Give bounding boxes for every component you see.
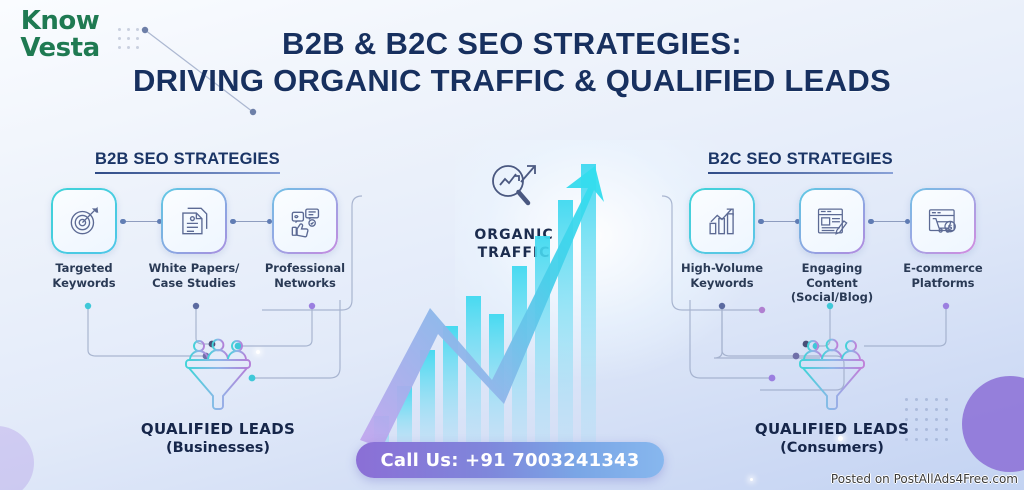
b2b-caption-professional-networks: Professional Networks — [249, 261, 361, 290]
b2c-connector-2 — [872, 221, 906, 222]
corner-accent-left — [0, 426, 34, 490]
b2b-card-targeted-keywords[interactable] — [51, 188, 117, 254]
b2b-caption-targeted-keywords: Targeted Keywords — [28, 261, 140, 290]
b2c-funnel-icon — [786, 336, 878, 410]
b2b-caption-white-papers: White Papers/ Case Studies — [138, 261, 250, 290]
b2c-card-engaging-content[interactable] — [799, 188, 865, 254]
b2b-section-heading: B2B SEO STRATEGIES — [95, 150, 280, 174]
b2b-card-professional-networks[interactable] — [272, 188, 338, 254]
call-us-button[interactable]: Call Us: +91 7003241343 — [356, 442, 664, 478]
watermark-text: Posted on PostAllAds4Free.com — [831, 472, 1018, 486]
infographic-canvas: Know Vesta B2B & B2C SEO STRATEGIES: DRI… — [0, 0, 1024, 490]
organic-traffic-growth-chart — [352, 152, 682, 452]
b2c-caption-ecommerce-platforms: E-commerce Platforms — [887, 261, 999, 290]
page-title-line1: B2B & B2C SEO STRATEGIES: — [0, 26, 1024, 63]
b2b-card-white-papers[interactable] — [161, 188, 227, 254]
spark-decoration — [750, 478, 753, 481]
growth-chart-icon — [703, 202, 741, 240]
b2b-funnel-icon — [172, 336, 264, 410]
b2c-card-high-volume-keywords[interactable] — [689, 188, 755, 254]
b2b-funnel-caption: QUALIFIED LEADS (Businesses) — [103, 420, 333, 456]
growth-bars-and-arrow — [352, 152, 682, 452]
target-icon — [65, 202, 103, 240]
documents-icon — [175, 202, 213, 240]
social-network-icon — [286, 202, 324, 240]
page-title-line2: DRIVING ORGANIC TRAFFIC & QUALIFIED LEAD… — [0, 63, 1024, 100]
b2b-connector-2 — [234, 221, 268, 222]
corner-accent-right — [962, 376, 1024, 472]
funnel-people-icon — [786, 336, 878, 410]
b2c-caption-engaging-content: Engaging Content (Social/Blog) — [776, 261, 888, 305]
shopping-cart-icon: $ — [924, 202, 962, 240]
page-title: B2B & B2C SEO STRATEGIES: DRIVING ORGANI… — [0, 26, 1024, 99]
b2c-connector-1 — [762, 221, 796, 222]
funnel-people-icon — [172, 336, 264, 410]
svg-text:$: $ — [948, 222, 953, 231]
article-pen-icon — [813, 202, 851, 240]
b2c-card-ecommerce-platforms[interactable]: $ — [910, 188, 976, 254]
b2b-connector-1 — [124, 221, 158, 222]
b2c-funnel-caption: QUALIFIED LEADS (Consumers) — [717, 420, 947, 456]
b2c-section-heading: B2C SEO STRATEGIES — [708, 150, 893, 174]
b2c-caption-high-volume-keywords: High-Volume Keywords — [666, 261, 778, 290]
